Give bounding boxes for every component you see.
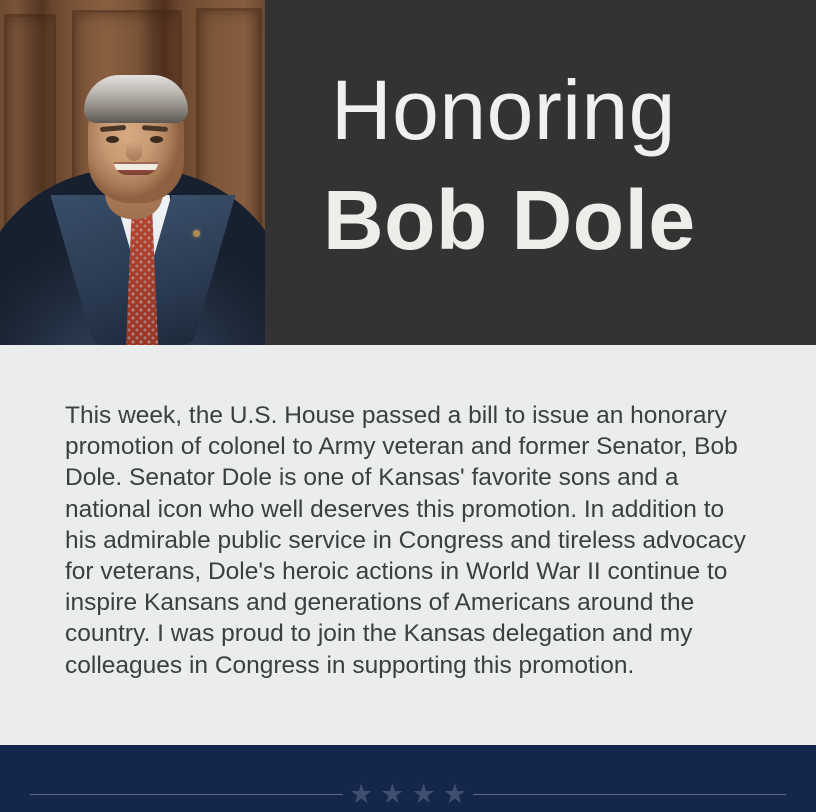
lapel-pin (193, 230, 200, 237)
footer-band: ★★★★ (0, 745, 816, 812)
hair (84, 75, 188, 123)
divider-line-left (30, 794, 343, 795)
header-banner: Honoring Bob Dole (0, 0, 816, 345)
eye-right (150, 136, 163, 143)
smiling-mouth (114, 162, 158, 175)
header-title-block: Honoring Bob Dole (265, 0, 816, 345)
divider-line-right (473, 794, 786, 795)
article-body-section: This week, the U.S. House passed a bill … (0, 345, 816, 745)
star-icon: ★ (380, 781, 404, 808)
article-paragraph: This week, the U.S. House passed a bill … (65, 400, 755, 681)
star-icon: ★ (349, 781, 373, 808)
nose (126, 141, 142, 161)
header-title-line-1: Honoring (331, 68, 676, 152)
star-icon: ★ (412, 781, 436, 808)
star-icon: ★ (443, 781, 467, 808)
star-group: ★★★★ (343, 781, 473, 808)
header-title-line-2: Bob Dole (323, 178, 696, 262)
newsletter-page: Honoring Bob Dole This week, the U.S. Ho… (0, 0, 816, 812)
portrait-subject (0, 75, 265, 345)
footer-divider: ★★★★ (30, 778, 786, 811)
eye-left (106, 136, 119, 143)
bob-dole-portrait-photo (0, 0, 265, 345)
